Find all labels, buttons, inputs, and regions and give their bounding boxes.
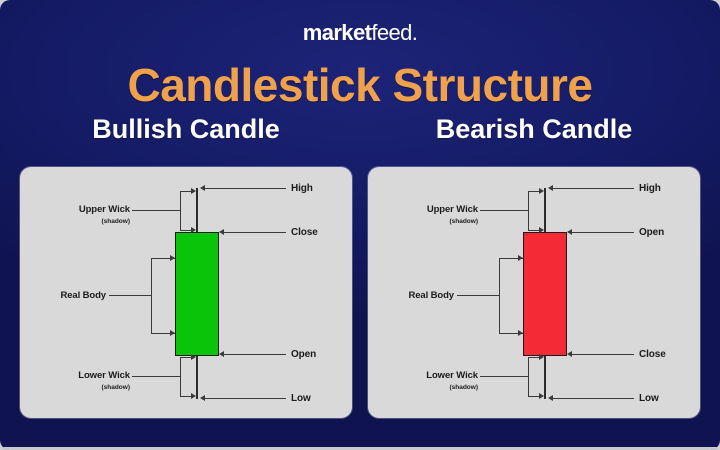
bullish-open-arrow-icon [219,351,224,357]
bearish-upper-wick-arrow-top-icon [539,188,544,194]
bullish-label-lower-wick: Lower Wick (shadow) [42,370,130,393]
bearish-real-body-text: Real Body [408,290,454,301]
bearish-real-body [523,232,567,356]
bearish-open-leader [571,232,634,233]
bearish-low-leader [552,398,634,399]
bullish-high-arrow-icon [200,185,205,191]
bullish-upper-wick-line [196,188,198,233]
bullish-upper-wick-stem [132,210,180,211]
bearish-high-leader [552,188,634,189]
bearish-real-body-arrow-top-icon [518,255,523,261]
bearish-label-low: Low [639,393,659,404]
subtitle-bullish: Bullish Candle [20,114,352,145]
bullish-label-close: Close [291,227,318,238]
bullish-upper-wick-bracket [180,191,181,230]
bearish-close-arrow-icon [567,351,572,357]
bearish-upper-wick-sub: (shadow) [390,216,478,227]
bullish-high-leader [204,188,286,189]
bullish-lower-wick-arrow-bottom-icon [191,393,196,399]
bearish-real-body-stem [457,295,499,296]
bullish-label-low: Low [291,393,311,404]
bullish-lower-wick-sub: (shadow) [42,382,130,393]
bullish-upper-wick-text: Upper Wick [79,204,130,215]
bullish-lower-wick-text: Lower Wick [78,370,130,381]
bullish-real-body-stem [109,295,151,296]
bearish-diagram: High Open Close Low Upper Wick (shadow) [368,167,700,418]
bearish-lower-wick-arrow-bottom-icon [539,393,544,399]
bearish-real-body-bracket [499,258,500,333]
bullish-close-leader [223,232,286,233]
bearish-lower-wick-stem [480,376,528,377]
bullish-close-arrow-icon [219,229,224,235]
bullish-lower-wick-bracket [180,357,181,396]
bullish-real-body-arrow-top-icon [170,255,175,261]
page-title: Candlestick Structure [0,58,720,112]
bearish-high-arrow-icon [548,185,553,191]
bullish-real-body-bracket [151,258,152,333]
bearish-upper-wick-stem [480,210,528,211]
bearish-upper-wick-line [544,188,546,233]
bearish-lower-wick-text: Lower Wick [426,370,478,381]
bullish-low-leader [204,398,286,399]
bearish-open-arrow-icon [567,229,572,235]
bearish-label-open: Open [639,227,664,238]
bullish-real-body-text: Real Body [60,290,106,301]
bullish-low-arrow-icon [200,395,205,401]
bearish-label-lower-wick: Lower Wick (shadow) [390,370,478,393]
panel-bullish-candle: High Close Open Low Upper Wick (shadow) [20,167,352,418]
bearish-lower-wick-line [544,353,546,399]
bearish-lower-wick-bracket [528,357,529,396]
bearish-label-close: Close [639,349,666,360]
bullish-lower-wick-arrow-top-icon [191,354,196,360]
bearish-close-leader [571,354,634,355]
bullish-upper-wick-sub: (shadow) [42,216,130,227]
bullish-real-body [175,232,219,356]
bullish-real-body-arrow-bottom-icon [170,330,175,336]
subtitle-bearish: Bearish Candle [368,114,700,145]
logo-text-market: market [303,20,372,45]
marketfeed-logo: marketfeed. [0,20,720,46]
logo-text-feed: feed. [371,20,417,45]
bullish-label-open: Open [291,349,316,360]
bearish-label-upper-wick: Upper Wick (shadow) [390,204,478,227]
bullish-label-real-body: Real Body [30,290,106,301]
bearish-upper-wick-text: Upper Wick [427,204,478,215]
bullish-diagram: High Close Open Low Upper Wick (shadow) [20,167,352,418]
bullish-upper-wick-arrow-top-icon [191,188,196,194]
bullish-label-upper-wick: Upper Wick (shadow) [42,204,130,227]
bearish-low-arrow-icon [548,395,553,401]
bearish-label-high: High [639,183,661,194]
bullish-open-leader [223,354,286,355]
bearish-lower-wick-sub: (shadow) [390,382,478,393]
bearish-upper-wick-bracket [528,191,529,230]
bearish-label-real-body: Real Body [378,290,454,301]
bearish-upper-wick-arrow-bottom-icon [539,227,544,233]
panel-bearish-candle: High Open Close Low Upper Wick (shadow) [368,167,700,418]
bearish-lower-wick-arrow-top-icon [539,354,544,360]
bullish-upper-wick-arrow-bottom-icon [191,227,196,233]
bullish-lower-wick-stem [132,376,180,377]
bullish-label-high: High [291,183,313,194]
bullish-lower-wick-line [196,353,198,399]
bearish-real-body-arrow-bottom-icon [518,330,523,336]
infographic-poster: marketfeed. Candlestick Structure Bullis… [0,0,720,450]
